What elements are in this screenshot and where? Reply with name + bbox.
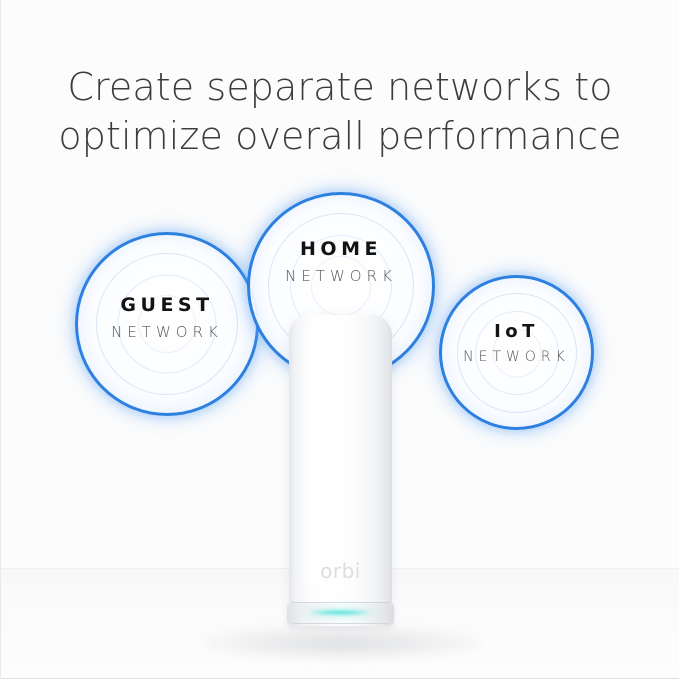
network-subtitle-guest: NETWORK — [75, 323, 259, 341]
network-title-home: HOME — [247, 238, 435, 260]
router-status-led — [311, 610, 369, 615]
network-subtitle-iot: NETWORK — [439, 349, 594, 365]
network-title-guest: GUEST — [75, 294, 259, 316]
orbi-brand-logo: orbi — [289, 559, 392, 583]
network-label-guest: GUEST NETWORK — [75, 294, 259, 341]
network-label-home: HOME NETWORK — [247, 238, 435, 285]
network-subtitle-home: NETWORK — [247, 267, 435, 285]
router-drop-shadow — [199, 626, 483, 660]
network-label-iot: IoT NETWORK — [439, 321, 594, 365]
network-title-iot: IoT — [439, 321, 594, 342]
product-feature-poster: Create separate networks to optimize ove… — [0, 0, 679, 679]
network-circle-guest: GUEST NETWORK — [75, 232, 259, 416]
network-circle-iot: IoT NETWORK — [439, 275, 594, 430]
router-foot-line — [293, 623, 388, 624]
router-highlight — [300, 321, 334, 589]
orbi-router-device: orbi — [289, 315, 392, 625]
